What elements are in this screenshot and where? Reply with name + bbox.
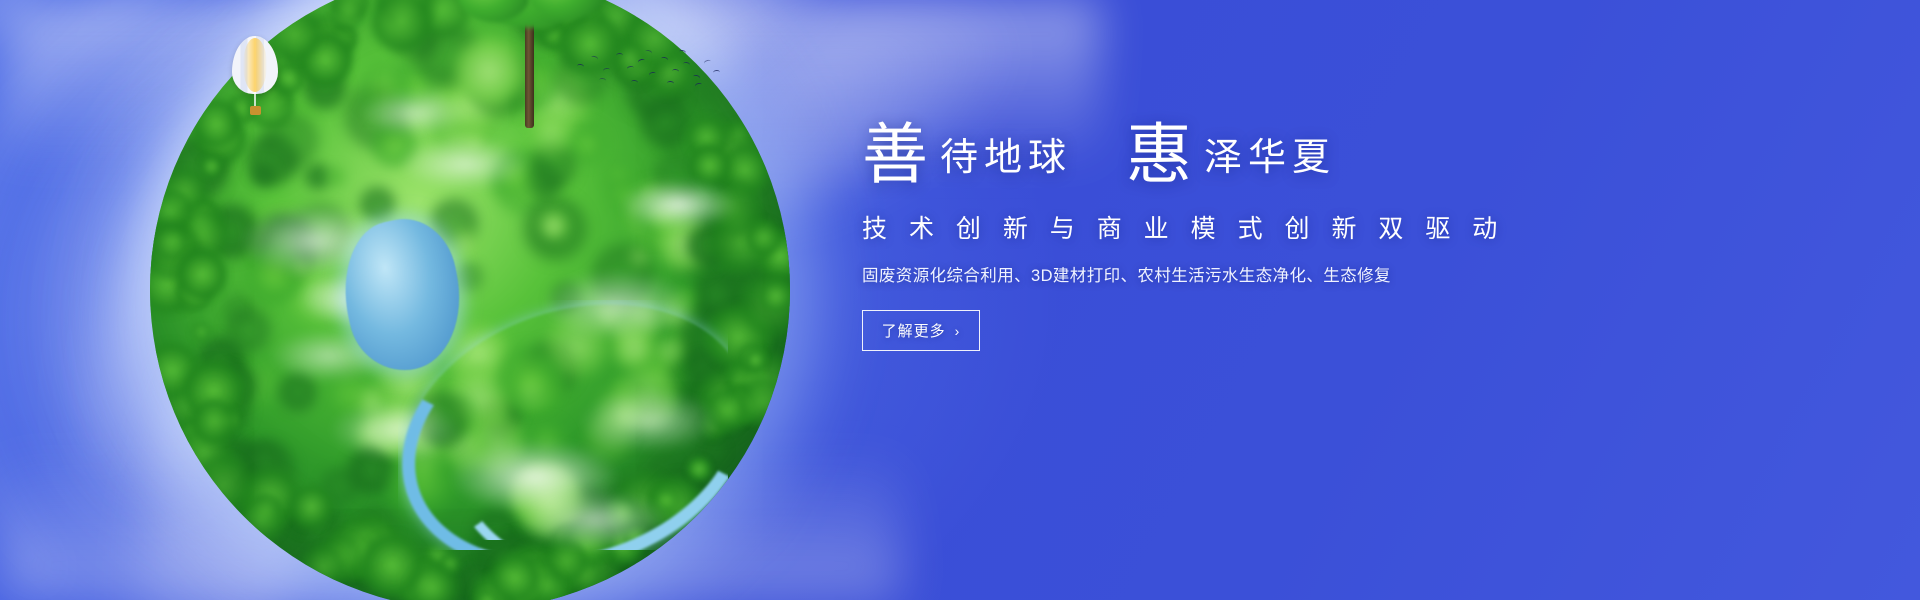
bird-flock-icon [575, 48, 725, 94]
headline-part1-small: 待地球 [928, 139, 1072, 177]
learn-more-button[interactable]: 了解更多 › [862, 310, 980, 351]
hero-banner: 善 待地球 惠 泽华夏 技 术 创 新 与 商 业 模 式 创 新 双 驱 动 … [0, 0, 1920, 600]
learn-more-label: 了解更多 [882, 320, 946, 341]
headline-part2-big: 惠 [1126, 124, 1192, 187]
chevron-right-icon: › [955, 323, 961, 339]
hot-air-balloon-icon [232, 36, 278, 122]
hero-subtitle: 技 术 创 新 与 商 业 模 式 创 新 双 驱 动 [862, 209, 1602, 245]
hero-description: 固废资源化综合利用、3D建材打印、农村生活污水生态净化、生态修复 [862, 262, 1602, 286]
headline-part1-big: 善 [862, 124, 928, 187]
headline-part2-small: 泽华夏 [1192, 139, 1336, 177]
page-title: 善 待地球 惠 泽华夏 [862, 120, 1602, 183]
hero-content: 善 待地球 惠 泽华夏 技 术 创 新 与 商 业 模 式 创 新 双 驱 动 … [862, 120, 1602, 351]
